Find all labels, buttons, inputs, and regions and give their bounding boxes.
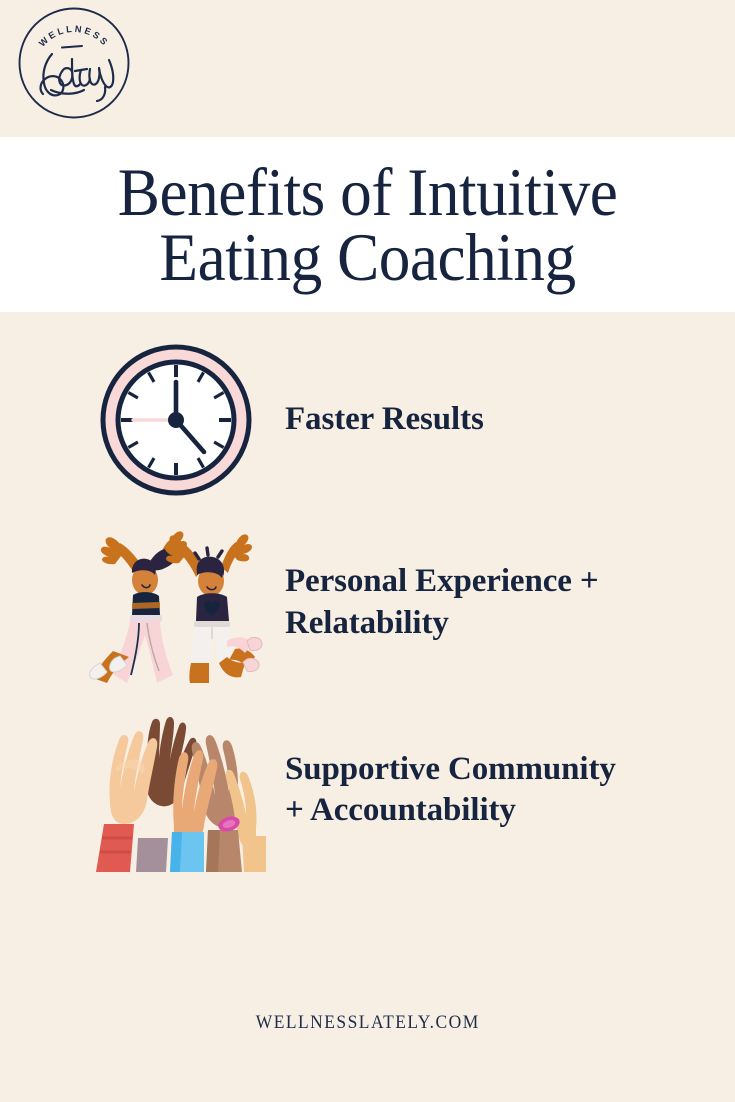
page-title-line-1: Benefits of Intuitive <box>118 160 618 225</box>
sleeve-tan <box>242 836 266 872</box>
benefit-label-line: Relatability <box>285 605 449 641</box>
page-title: Benefits of Intuitive Eating Coaching <box>103 160 632 289</box>
benefit-icon-slot <box>78 515 273 690</box>
hand-peach <box>109 731 157 824</box>
wellness-lately-logo[interactable]: WELLNESS <box>17 7 131 119</box>
benefit-row: Faster Results <box>0 330 735 510</box>
benefit-row: Personal Experience + Relatability <box>0 510 735 695</box>
pinterest-infographic: WELLNESS Benefits of Intuitive Eating Co… <box>0 0 735 1102</box>
logo-badge-icon: WELLNESS <box>17 7 131 119</box>
benefit-icon-slot <box>78 703 273 878</box>
high-five-hands-icon <box>86 706 266 874</box>
jumping-women-icon <box>87 523 265 683</box>
sleeve-red <box>96 824 134 872</box>
benefit-label: Faster Results <box>273 399 514 440</box>
benefit-label: Supportive Community + Accountability <box>273 749 646 832</box>
benefit-label-line: Personal Experience + <box>285 563 599 599</box>
benefit-row: Supportive Community + Accountability <box>0 695 735 885</box>
footer: WELLNESSLATELY.COM <box>0 1012 735 1034</box>
benefit-label-line: Supportive Community <box>285 751 616 787</box>
svg-text:WELLNESS: WELLNESS <box>37 24 111 49</box>
sleeve-gray <box>136 838 168 872</box>
page-title-line-2: Eating Coaching <box>118 225 618 290</box>
benefits-list: Faster Results <box>0 330 735 885</box>
benefit-label-line: + Accountability <box>285 792 516 828</box>
clock-icon <box>100 344 252 496</box>
title-band: Benefits of Intuitive Eating Coaching <box>0 137 735 312</box>
benefit-icon-slot <box>78 333 273 508</box>
benefit-label: Personal Experience + Relatability <box>273 561 629 644</box>
benefit-label-line: Faster Results <box>285 401 484 437</box>
website-url[interactable]: WELLNESSLATELY.COM <box>256 1012 480 1034</box>
